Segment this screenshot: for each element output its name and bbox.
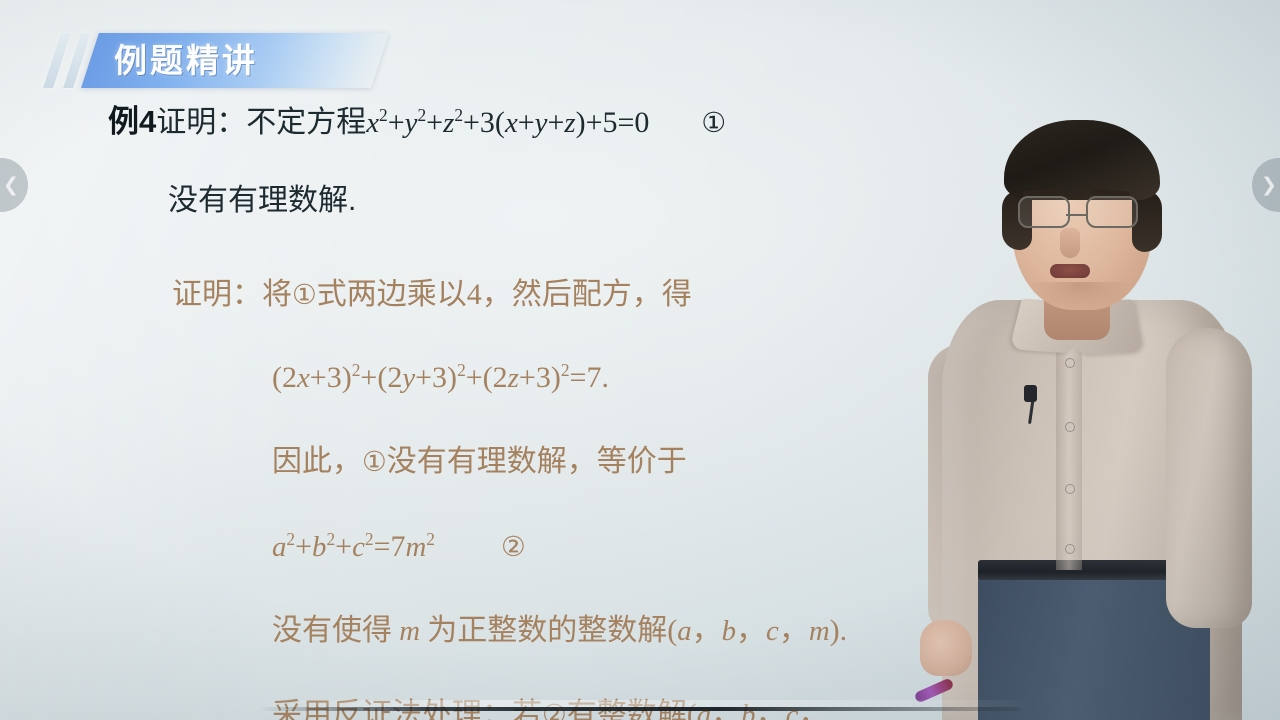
- proof-text: 得: [662, 278, 692, 311]
- equation-label-1: ①: [362, 445, 387, 478]
- proof-text: ，: [779, 614, 809, 647]
- equation-label-1: ①: [292, 278, 317, 311]
- exponent-2: 2: [286, 529, 295, 549]
- exponent-2: 2: [379, 105, 388, 125]
- equation-label-1: ①: [701, 106, 726, 139]
- exponent-2: 2: [457, 360, 466, 380]
- equation-var-x: x: [505, 107, 518, 139]
- proof-text: 等价于: [597, 445, 687, 478]
- microphone-wire: [1028, 396, 1035, 424]
- plus-sign: +: [426, 106, 443, 139]
- equation-var-x: x: [366, 107, 379, 139]
- exponent-2: 2: [454, 105, 463, 125]
- equation-var-a: a: [677, 615, 691, 647]
- proof-text: 因此，: [272, 445, 362, 478]
- proof-text: 没有使得: [272, 614, 392, 647]
- equation-tail: +3(: [463, 106, 505, 139]
- equation-var-x: x: [297, 362, 310, 394]
- plus-sign: +(2: [466, 361, 508, 394]
- shirt-button: [1065, 422, 1075, 432]
- equals-seven: =7.: [570, 361, 609, 394]
- proof-line-2: (2x+3)2+(2y+3)2+(2z+3)2=7.: [272, 362, 1252, 393]
- desk-edge: [260, 707, 1020, 711]
- chevron-right-icon: ❯: [1261, 176, 1277, 195]
- problem-line-2: 没有有理数解.: [168, 186, 1148, 216]
- proof-line-1: 证明：将①式两边乘以4，然后配方，得: [172, 280, 1152, 310]
- equation-var-m: m: [405, 531, 426, 563]
- equation-var-a: a: [272, 531, 286, 563]
- exponent-2: 2: [365, 529, 374, 549]
- proof-text: 式两边乘以: [317, 278, 467, 311]
- proof-line-4: a2+b2+c2=7m2②: [272, 531, 1252, 562]
- proof-label: 证明：: [172, 278, 262, 311]
- equation-var-m: m: [392, 615, 427, 647]
- plus-sign: +: [335, 530, 352, 563]
- presenter-belt: [978, 560, 1210, 580]
- equation-var-b: b: [312, 531, 326, 563]
- presenter-nose: [1060, 228, 1080, 258]
- slide-video-frame: 例题精讲 例4证明：不定方程x2+y2+z2+3(x+y+z)+5=0① 没有有…: [0, 0, 1280, 720]
- proof-text: 为正整数的整数解: [427, 614, 667, 647]
- equation-var-m: m: [809, 615, 830, 647]
- number-4: 4: [467, 278, 482, 311]
- problem-lead: 证明：不定方程: [156, 106, 366, 139]
- proof-text: 没有有理数解，: [387, 445, 597, 478]
- equation-tail: )+5=0: [576, 106, 650, 139]
- exponent-2: 2: [561, 360, 570, 380]
- proof-line-5: 没有使得 m 为正整数的整数解(a，b，c，m).: [272, 616, 1252, 646]
- equation-var-b: b: [722, 615, 736, 647]
- paren-open: (2: [272, 361, 297, 394]
- exponent-2: 2: [326, 529, 335, 549]
- equals-sign: =7: [374, 530, 406, 563]
- equation-var-y: y: [405, 107, 418, 139]
- equation-var-z: z: [508, 362, 519, 394]
- proof-text: ，: [482, 278, 512, 311]
- slide-content: 例4证明：不定方程x2+y2+z2+3(x+y+z)+5=0① 没有有理数解. …: [0, 106, 980, 380]
- paren-close: +3): [415, 361, 457, 394]
- equation-var-c: c: [766, 615, 779, 647]
- desk-gloss: [250, 700, 1030, 707]
- equation-var-z: z: [564, 107, 575, 139]
- paren-close: +3): [310, 361, 352, 394]
- next-slide-button[interactable]: ❯: [1252, 158, 1280, 212]
- exponent-2: 2: [426, 529, 435, 549]
- presenter-mouth: [1050, 264, 1090, 278]
- proof-text: ，: [736, 614, 766, 647]
- banner-title: 例题精讲: [114, 33, 258, 88]
- plus-sign: +: [518, 106, 535, 139]
- equation-var-c: c: [352, 531, 365, 563]
- proof-text: ，: [692, 614, 722, 647]
- proof-text: 然后配方: [512, 278, 632, 311]
- equation-var-y: y: [402, 362, 415, 394]
- plus-sign: +(2: [360, 361, 402, 394]
- plus-sign: +: [388, 106, 405, 139]
- proof-text: ，: [632, 278, 662, 311]
- shirt-button: [1065, 484, 1075, 494]
- equation-label-2: ②: [501, 530, 526, 563]
- exponent-2: 2: [417, 105, 426, 125]
- proof-text: 将: [262, 278, 292, 311]
- equation-var-z: z: [443, 107, 454, 139]
- paren-open: (: [667, 614, 677, 647]
- paren-close: ).: [830, 614, 848, 647]
- plus-sign: +: [547, 106, 564, 139]
- problem-tag: 例4: [108, 104, 156, 139]
- problem-line-1: 例4证明：不定方程x2+y2+z2+3(x+y+z)+5=0①: [108, 106, 1088, 138]
- section-banner: 例题精讲: [52, 33, 382, 88]
- paren-close: +3): [519, 361, 561, 394]
- chevron-left-icon: ❮: [3, 176, 19, 195]
- proof-line-3: 因此，①没有有理数解，等价于: [272, 447, 1252, 477]
- plus-sign: +: [295, 530, 312, 563]
- equation-var-y: y: [535, 107, 548, 139]
